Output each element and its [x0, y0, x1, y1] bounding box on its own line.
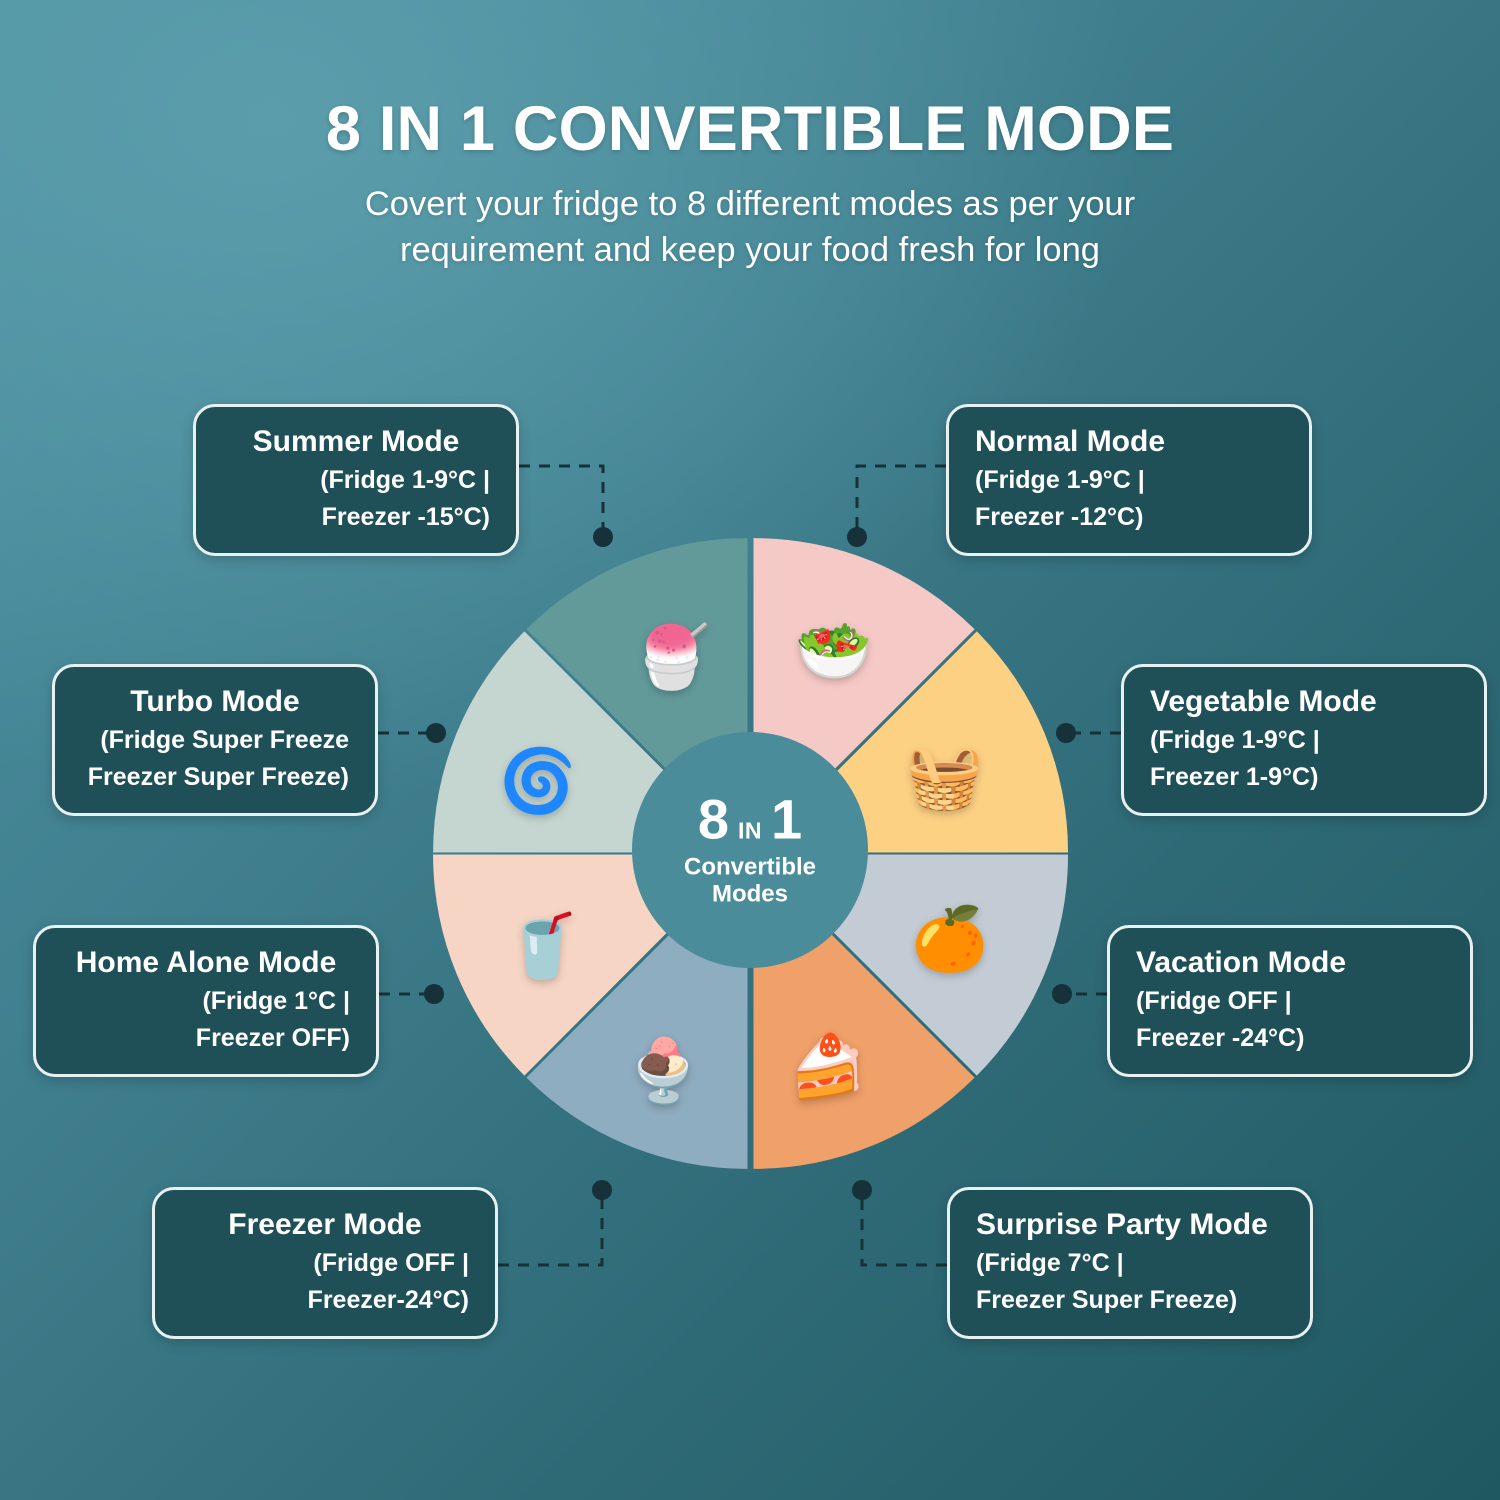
mode-card-normal[interactable]: Normal Mode (Fridge 1-9°C | Freezer -12°… — [946, 404, 1312, 556]
wedge-art-surprise: 🍰 — [773, 1037, 883, 1099]
mode-name-summer: Summer Mode — [222, 425, 490, 459]
mode-detail-turbo-1: (Fridge Super Freeze — [81, 724, 349, 756]
mode-detail-surprise-party-1: (Fridge 7°C | — [976, 1247, 1284, 1279]
mode-card-vegetable[interactable]: Vegetable Mode (Fridge 1-9°C | Freezer 1… — [1121, 664, 1487, 816]
infographic-canvas: 8 IN 1 CONVERTIBLE MODE Covert your frid… — [0, 0, 1500, 1500]
mode-card-summer[interactable]: Summer Mode (Fridge 1-9°C | Freezer -15°… — [193, 404, 519, 556]
mode-detail-summer-1: (Fridge 1-9°C | — [222, 464, 490, 496]
wedge-art-normal: 🥗 — [779, 621, 889, 683]
connector-dot-surprise — [852, 1180, 872, 1200]
mode-card-home-alone[interactable]: Home Alone Mode (Fridge 1°C | Freezer OF… — [33, 925, 379, 1077]
hub-circle — [632, 732, 868, 968]
mode-name-normal: Normal Mode — [975, 425, 1283, 459]
modes-wheel: 🥗 🧺 🍊 🍰 🍨 🥤 🌀 🍧 8 IN 1 Convertible Modes — [430, 530, 1070, 1170]
mode-detail-turbo-2: Freezer Super Freeze) — [81, 761, 349, 793]
wedge-art-turbo: 🌀 — [483, 751, 593, 813]
wedge-art-vacation: 🍊 — [895, 909, 1005, 971]
page-subtitle: Covert your fridge to 8 different modes … — [0, 182, 1500, 274]
mode-name-vegetable: Vegetable Mode — [1150, 685, 1458, 719]
subtitle-line-1: Covert your fridge to 8 different modes … — [0, 182, 1500, 228]
wedge-art-vegetable: 🧺 — [890, 747, 1000, 809]
mode-name-turbo: Turbo Mode — [81, 685, 349, 719]
mode-detail-vacation-2: Freezer -24°C) — [1136, 1022, 1444, 1054]
connector-normal — [857, 466, 946, 530]
mode-detail-normal-2: Freezer -12°C) — [975, 501, 1283, 533]
mode-detail-vacation-1: (Fridge OFF | — [1136, 985, 1444, 1017]
mode-detail-vegetable-1: (Fridge 1-9°C | — [1150, 724, 1458, 756]
mode-card-turbo[interactable]: Turbo Mode (Fridge Super Freeze Freezer … — [52, 664, 378, 816]
connector-dot-freezer — [592, 1180, 612, 1200]
connector-surprise — [862, 1192, 947, 1265]
subtitle-line-2: requirement and keep your food fresh for… — [0, 228, 1500, 274]
mode-name-home-alone: Home Alone Mode — [62, 946, 350, 980]
mode-name-freezer: Freezer Mode — [181, 1208, 469, 1242]
page-title: 8 IN 1 CONVERTIBLE MODE — [0, 96, 1500, 162]
mode-detail-vegetable-2: Freezer 1-9°C) — [1150, 761, 1458, 793]
mode-detail-freezer-1: (Fridge OFF | — [181, 1247, 469, 1279]
header-block: 8 IN 1 CONVERTIBLE MODE Covert your frid… — [0, 96, 1500, 274]
mode-detail-normal-1: (Fridge 1-9°C | — [975, 464, 1283, 496]
mode-detail-home-alone-1: (Fridge 1°C | — [62, 985, 350, 1017]
mode-card-surprise-party[interactable]: Surprise Party Mode (Fridge 7°C | Freeze… — [947, 1187, 1313, 1339]
wedge-art-freezer: 🍨 — [609, 1041, 719, 1103]
mode-detail-home-alone-2: Freezer OFF) — [62, 1022, 350, 1054]
mode-card-vacation[interactable]: Vacation Mode (Fridge OFF | Freezer -24°… — [1107, 925, 1473, 1077]
mode-card-freezer[interactable]: Freezer Mode (Fridge OFF | Freezer-24°C) — [152, 1187, 498, 1339]
connector-freezer — [498, 1192, 602, 1265]
mode-detail-summer-2: Freezer -15°C) — [222, 501, 490, 533]
mode-detail-freezer-2: Freezer-24°C) — [181, 1284, 469, 1316]
mode-detail-surprise-party-2: Freezer Super Freeze) — [976, 1284, 1284, 1316]
wedge-art-summer: 🍧 — [617, 627, 727, 689]
mode-name-vacation: Vacation Mode — [1136, 946, 1444, 980]
connector-summer — [519, 466, 603, 533]
mode-name-surprise-party: Surprise Party Mode — [976, 1208, 1284, 1242]
wedge-art-home-alone: 🥤 — [488, 916, 598, 978]
